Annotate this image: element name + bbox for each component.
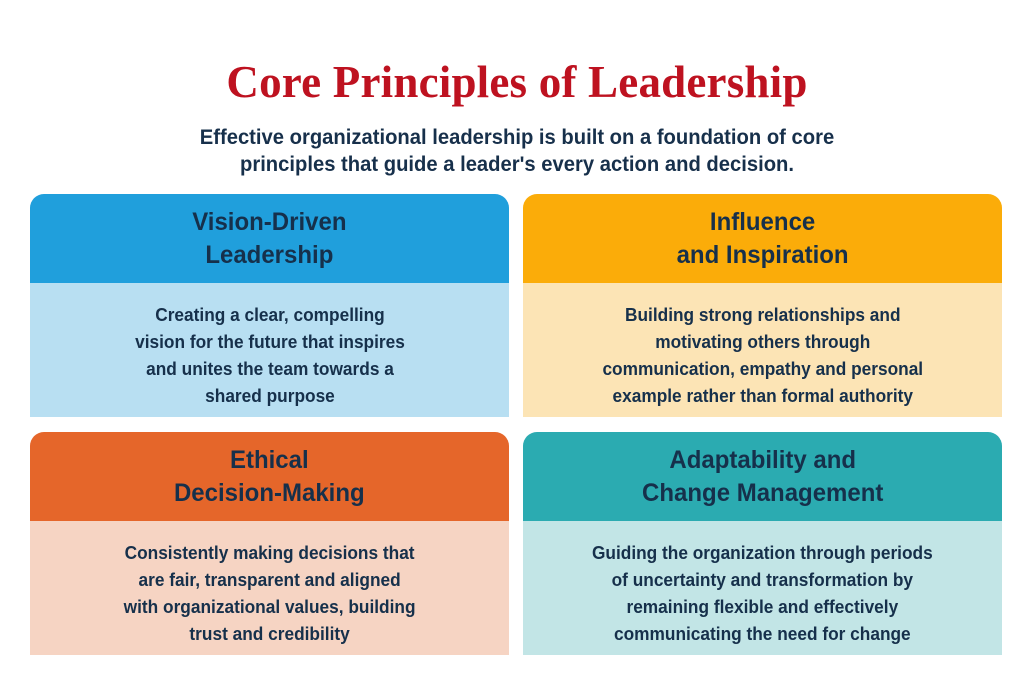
subtitle-line-2: principles that guide a leader's every a…	[146, 151, 889, 178]
card-ethical-decision-making[interactable]: Ethical Decision-Making Consistently mak…	[30, 432, 509, 655]
card-vision-driven-leadership[interactable]: Vision-Driven Leadership Creating a clea…	[30, 194, 509, 417]
card-desc-line-4: communicating the need for change	[592, 621, 933, 648]
card-header-vision-driven-leadership: Vision-Driven Leadership	[30, 194, 509, 283]
card-title-adaptability-and-change-management: Adaptability and Change Management	[642, 444, 883, 510]
card-desc-line-1: Creating a clear, compelling	[135, 302, 405, 329]
card-description-influence-and-inspiration: Building strong relationships and motiva…	[602, 302, 923, 410]
card-header-influence-and-inspiration: Influence and Inspiration	[523, 194, 1002, 283]
card-title-ethical-decision-making: Ethical Decision-Making	[174, 444, 365, 510]
infographic-canvas: Core Principles of Leadership Effective …	[0, 0, 1034, 691]
card-header-adaptability-and-change-management: Adaptability and Change Management	[523, 432, 1002, 521]
card-desc-line-3: communication, empathy and personal	[602, 356, 923, 383]
card-desc-line-2: vision for the future that inspires	[135, 329, 405, 356]
card-adaptability-and-change-management[interactable]: Adaptability and Change Management Guidi…	[523, 432, 1002, 655]
card-title-line-2: Decision-Making	[174, 477, 365, 510]
card-description-ethical-decision-making: Consistently making decisions that are f…	[124, 540, 416, 648]
card-desc-line-2: motivating others through	[602, 329, 923, 356]
header-block: Core Principles of Leadership Effective …	[0, 0, 1034, 178]
card-header-ethical-decision-making: Ethical Decision-Making	[30, 432, 509, 521]
principle-card-grid: Vision-Driven Leadership Creating a clea…	[30, 194, 1002, 665]
card-desc-line-1: Consistently making decisions that	[124, 540, 416, 567]
page-subtitle: Effective organizational leadership is b…	[146, 108, 889, 178]
card-desc-line-3: remaining flexible and effectively	[592, 594, 933, 621]
page-title: Core Principles of Leadership	[0, 0, 1034, 108]
card-title-line-1: Influence	[676, 206, 848, 239]
card-description-vision-driven-leadership: Creating a clear, compelling vision for …	[135, 302, 405, 410]
card-title-line-2: Change Management	[642, 477, 883, 510]
card-title-line-1: Adaptability and	[642, 444, 883, 477]
card-title-line-1: Ethical	[174, 444, 365, 477]
card-influence-and-inspiration[interactable]: Influence and Inspiration Building stron…	[523, 194, 1002, 417]
card-desc-line-4: trust and credibility	[124, 621, 416, 648]
card-desc-line-4: shared purpose	[135, 383, 405, 410]
card-description-adaptability-and-change-management: Guiding the organization through periods…	[592, 540, 933, 648]
card-title-vision-driven-leadership: Vision-Driven Leadership	[192, 206, 346, 272]
card-title-line-1: Vision-Driven	[192, 206, 346, 239]
card-desc-line-1: Guiding the organization through periods	[592, 540, 933, 567]
card-body-influence-and-inspiration: Building strong relationships and motiva…	[523, 283, 1002, 417]
card-body-vision-driven-leadership: Creating a clear, compelling vision for …	[30, 283, 509, 417]
card-desc-line-3: and unites the team towards a	[135, 356, 405, 383]
card-body-adaptability-and-change-management: Guiding the organization through periods…	[523, 521, 1002, 655]
card-title-line-2: and Inspiration	[676, 239, 848, 272]
card-desc-line-1: Building strong relationships and	[602, 302, 923, 329]
card-title-line-2: Leadership	[192, 239, 346, 272]
card-body-ethical-decision-making: Consistently making decisions that are f…	[30, 521, 509, 655]
card-desc-line-2: of uncertainty and transformation by	[592, 567, 933, 594]
card-desc-line-4: example rather than formal authority	[602, 383, 923, 410]
card-title-influence-and-inspiration: Influence and Inspiration	[676, 206, 848, 272]
subtitle-line-1: Effective organizational leadership is b…	[146, 124, 889, 151]
card-desc-line-3: with organizational values, building	[124, 594, 416, 621]
card-desc-line-2: are fair, transparent and aligned	[124, 567, 416, 594]
